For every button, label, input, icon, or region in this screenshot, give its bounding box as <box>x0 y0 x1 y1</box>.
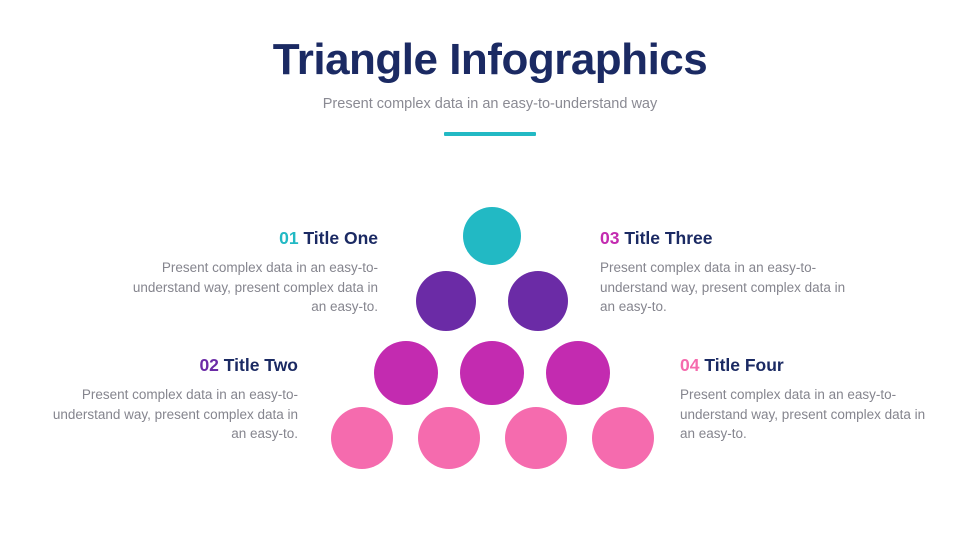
pyramid-circle-level-3-3[interactable] <box>546 341 610 405</box>
info-block-02: 02 Title Two Present complex data in an … <box>38 355 298 444</box>
pyramid-circle-level-2-2[interactable] <box>508 271 568 331</box>
info-block-03: 03 Title Three Present complex data in a… <box>600 228 860 317</box>
info-block-01-title: Title One <box>303 228 378 248</box>
pyramid-circle-level-4-4[interactable] <box>592 407 654 469</box>
info-block-02-number: 02 <box>199 355 218 375</box>
info-block-03-number: 03 <box>600 228 619 248</box>
page-subtitle: Present complex data in an easy-to-under… <box>0 96 980 113</box>
slide-header: Triangle Infographics Present complex da… <box>0 36 980 136</box>
info-block-04-number: 04 <box>680 355 699 375</box>
pyramid-circle-level-4-3[interactable] <box>505 407 567 469</box>
info-block-04-body: Present complex data in an easy-to-under… <box>680 385 940 444</box>
pyramid-circle-level-3-2[interactable] <box>460 341 524 405</box>
info-block-02-heading: 02 Title Two <box>38 355 298 376</box>
info-block-02-body: Present complex data in an easy-to-under… <box>38 385 298 444</box>
info-block-04-title: Title Four <box>704 355 783 375</box>
info-block-03-heading: 03 Title Three <box>600 228 860 249</box>
pyramid-circle-level-4-2[interactable] <box>418 407 480 469</box>
page-title: Triangle Infographics <box>0 36 980 84</box>
info-block-01-heading: 01 Title One <box>118 228 378 249</box>
pyramid-circle-level-3-1[interactable] <box>374 341 438 405</box>
info-block-03-body: Present complex data in an easy-to-under… <box>600 258 860 317</box>
info-block-02-title: Title Two <box>224 355 298 375</box>
info-block-01-number: 01 <box>279 228 298 248</box>
info-block-04-heading: 04 Title Four <box>680 355 940 376</box>
pyramid-circle-level-1-1[interactable] <box>463 207 521 265</box>
pyramid-circle-level-2-1[interactable] <box>416 271 476 331</box>
pyramid-circle-level-4-1[interactable] <box>331 407 393 469</box>
info-block-03-title: Title Three <box>624 228 712 248</box>
info-block-01-body: Present complex data in an easy-to-under… <box>118 258 378 317</box>
info-block-04: 04 Title Four Present complex data in an… <box>680 355 940 444</box>
info-block-01: 01 Title One Present complex data in an … <box>118 228 378 317</box>
infographic-slide: Triangle Infographics Present complex da… <box>0 0 980 551</box>
accent-divider <box>444 132 536 136</box>
